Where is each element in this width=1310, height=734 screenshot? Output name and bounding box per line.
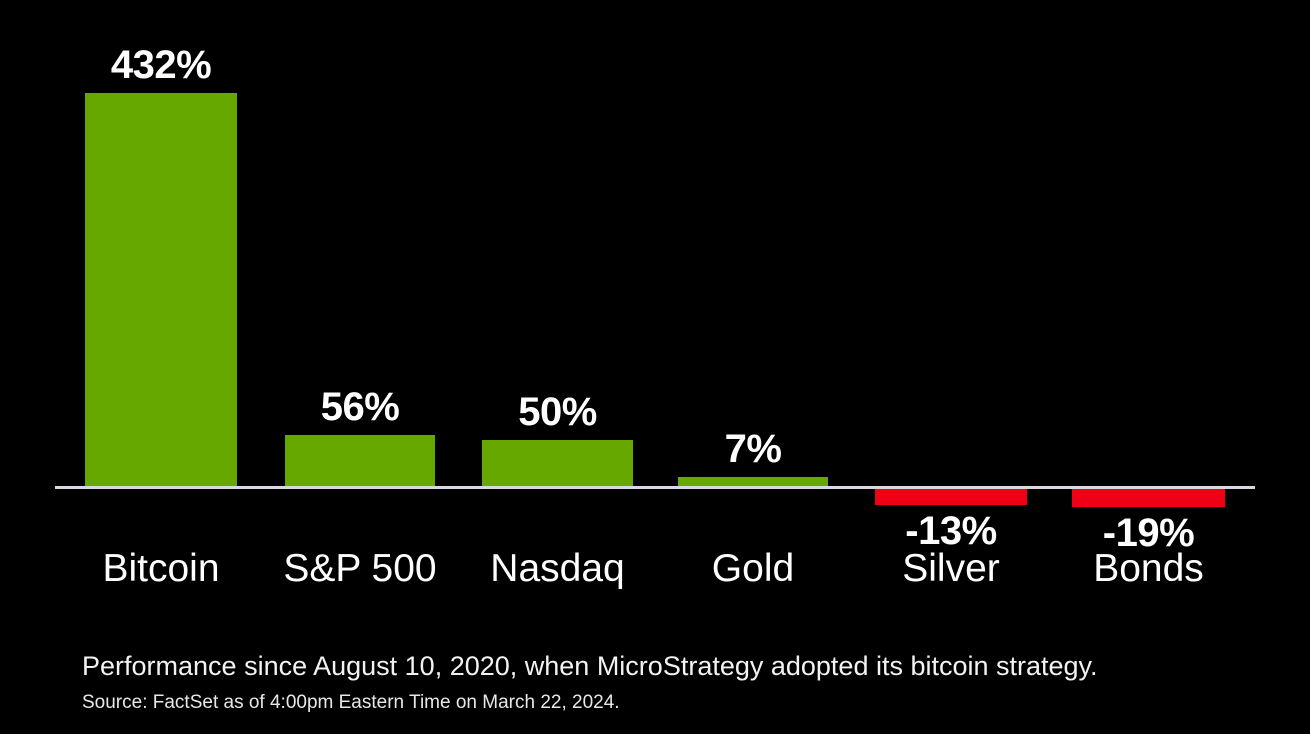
bar-slot-bonds: -19% Bonds: [1072, 0, 1225, 640]
category-label-gold: Gold: [638, 549, 868, 588]
category-label-sp500: S&P 500: [245, 549, 475, 588]
chart-source-note: Source: FactSet as of 4:00pm Eastern Tim…: [82, 691, 1262, 715]
bar-column-bonds: -19%: [1072, 489, 1225, 507]
value-label-sp500: 56%: [255, 387, 465, 427]
bar-slot-sp500: 56% S&P 500: [285, 0, 435, 640]
plot-area: 432% Bitcoin 56% S&P 500 50% Nasdaq 7%: [0, 0, 1310, 640]
bar-column-sp500: 56%: [285, 435, 435, 486]
bar-bitcoin[interactable]: [85, 93, 237, 486]
chart-caption: Performance since August 10, 2020, when …: [82, 650, 1262, 684]
value-label-nasdaq: 50%: [452, 392, 663, 432]
value-label-bitcoin: 432%: [55, 45, 267, 85]
value-label-gold: 7%: [648, 429, 858, 469]
bar-sp500[interactable]: [285, 435, 435, 486]
bar-slot-silver: -13% Silver: [875, 0, 1027, 640]
bar-column-nasdaq: 50%: [482, 440, 633, 486]
category-label-bonds: Bonds: [1032, 549, 1265, 588]
category-label-bitcoin: Bitcoin: [45, 549, 277, 588]
bar-column-bitcoin: 432%: [85, 93, 237, 486]
bar-column-gold: 7%: [678, 477, 828, 486]
chart-footer: Performance since August 10, 2020, when …: [82, 650, 1262, 715]
bar-silver[interactable]: [875, 489, 1027, 505]
performance-bar-chart: 432% Bitcoin 56% S&P 500 50% Nasdaq 7%: [0, 0, 1310, 734]
bar-slot-gold: 7% Gold: [678, 0, 828, 640]
bar-gold[interactable]: [678, 477, 828, 486]
value-label-silver: -13%: [845, 511, 1057, 551]
bar-slot-nasdaq: 50% Nasdaq: [482, 0, 633, 640]
bar-nasdaq[interactable]: [482, 440, 633, 486]
bar-bonds[interactable]: [1072, 489, 1225, 507]
bar-slot-bitcoin: 432% Bitcoin: [85, 0, 237, 640]
bar-column-silver: -13%: [875, 489, 1027, 505]
